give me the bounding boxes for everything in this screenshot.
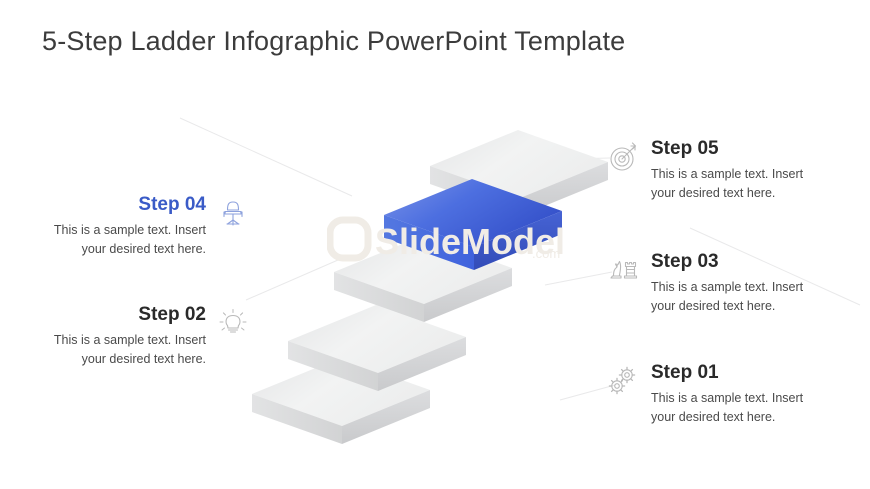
lightbulb-icon	[216, 306, 250, 340]
step-block-step02[interactable]: Step 02 This is a sample text. Insert yo…	[34, 304, 250, 370]
target-arrow-icon	[607, 140, 641, 174]
step-title: Step 04	[34, 194, 206, 216]
step-block-step03[interactable]: Step 03 This is a sample text. Insert yo…	[607, 251, 819, 317]
step-block-step01[interactable]: Step 01 This is a sample text. Insert yo…	[607, 362, 819, 428]
step-text-step05: Step 05 This is a sample text. Insert yo…	[651, 138, 819, 204]
ladder-slab-step01	[252, 358, 430, 444]
page-title: 5-Step Ladder Infographic PowerPoint Tem…	[42, 26, 625, 57]
step-title: Step 03	[651, 251, 819, 273]
step-title: Step 02	[34, 304, 206, 326]
step-title: Step 05	[651, 138, 819, 160]
watermark-suffix: .com	[532, 246, 560, 261]
step-text-step03: Step 03 This is a sample text. Insert yo…	[651, 251, 819, 317]
step-description: This is a sample text. Insert your desir…	[651, 278, 819, 317]
step-block-step04[interactable]: Step 04 This is a sample text. Insert yo…	[34, 194, 250, 260]
ladder-slab-step03	[334, 236, 512, 322]
step-description: This is a sample text. Insert your desir…	[651, 389, 819, 428]
watermark-text: SlideModel	[375, 221, 565, 262]
step-text-step01: Step 01 This is a sample text. Insert yo…	[651, 362, 819, 428]
step-description: This is a sample text. Insert your desir…	[34, 331, 206, 370]
step-text-step02: Step 02 This is a sample text. Insert yo…	[34, 304, 206, 370]
gears-icon	[607, 364, 641, 398]
ladder-slab-step05	[430, 130, 608, 216]
chess-pieces-icon	[607, 253, 641, 287]
ladder-slab-step02	[288, 305, 466, 391]
office-chair-icon	[216, 196, 250, 230]
slidemodel-watermark: SlideModel .com	[327, 212, 587, 270]
step-description: This is a sample text. Insert your desir…	[34, 221, 206, 260]
step-text-step04: Step 04 This is a sample text. Insert yo…	[34, 194, 206, 260]
step-block-step05[interactable]: Step 05 This is a sample text. Insert yo…	[607, 138, 819, 204]
step-title: Step 01	[651, 362, 819, 384]
ladder-slab-step04	[384, 179, 562, 270]
step-description: This is a sample text. Insert your desir…	[651, 165, 819, 204]
slide-canvas: 5-Step Ladder Infographic PowerPoint Tem…	[0, 0, 870, 489]
